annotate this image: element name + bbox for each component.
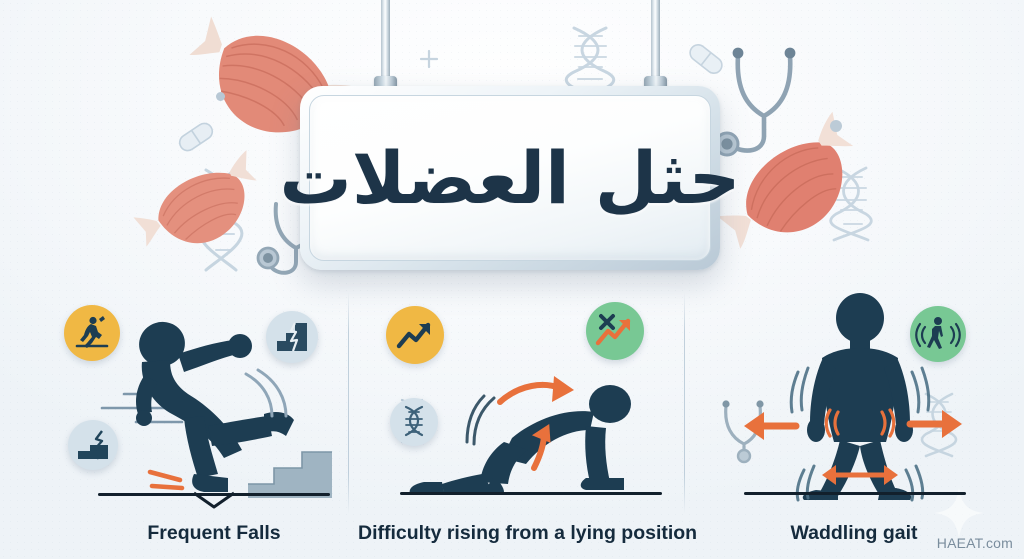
sway-arrow-left (742, 408, 800, 442)
ground-notch (192, 492, 236, 510)
person-rising-figure (408, 372, 658, 498)
trend-up-icon (386, 306, 444, 364)
page-title: حثل العضلات (280, 142, 741, 214)
panel-divider (348, 292, 349, 514)
ground-line (400, 492, 662, 495)
ground-line (744, 492, 966, 495)
trend-up-blocked-icon (586, 302, 644, 360)
sway-arrow-bidirectional (818, 462, 902, 488)
panel-caption-difficulty-rising: Difficulty rising from a lying position (358, 522, 678, 545)
muscle-fiber-icon (144, 160, 254, 252)
watermark: HAEAT.com (937, 535, 1013, 551)
person-falling-figure (112, 318, 324, 500)
sign-face: حثل العضلات (309, 95, 711, 261)
poster-canvas: حثل العضلات (0, 0, 1024, 559)
sway-arrow-right (906, 406, 964, 440)
panel-caption-frequent-falls: Frequent Falls (72, 522, 356, 545)
decorative-dot (216, 92, 225, 101)
title-sign-board: حثل العضلات (300, 86, 720, 270)
decorative-dot (830, 120, 842, 132)
plus-cross-icon (418, 48, 440, 70)
panel-divider (684, 292, 685, 514)
